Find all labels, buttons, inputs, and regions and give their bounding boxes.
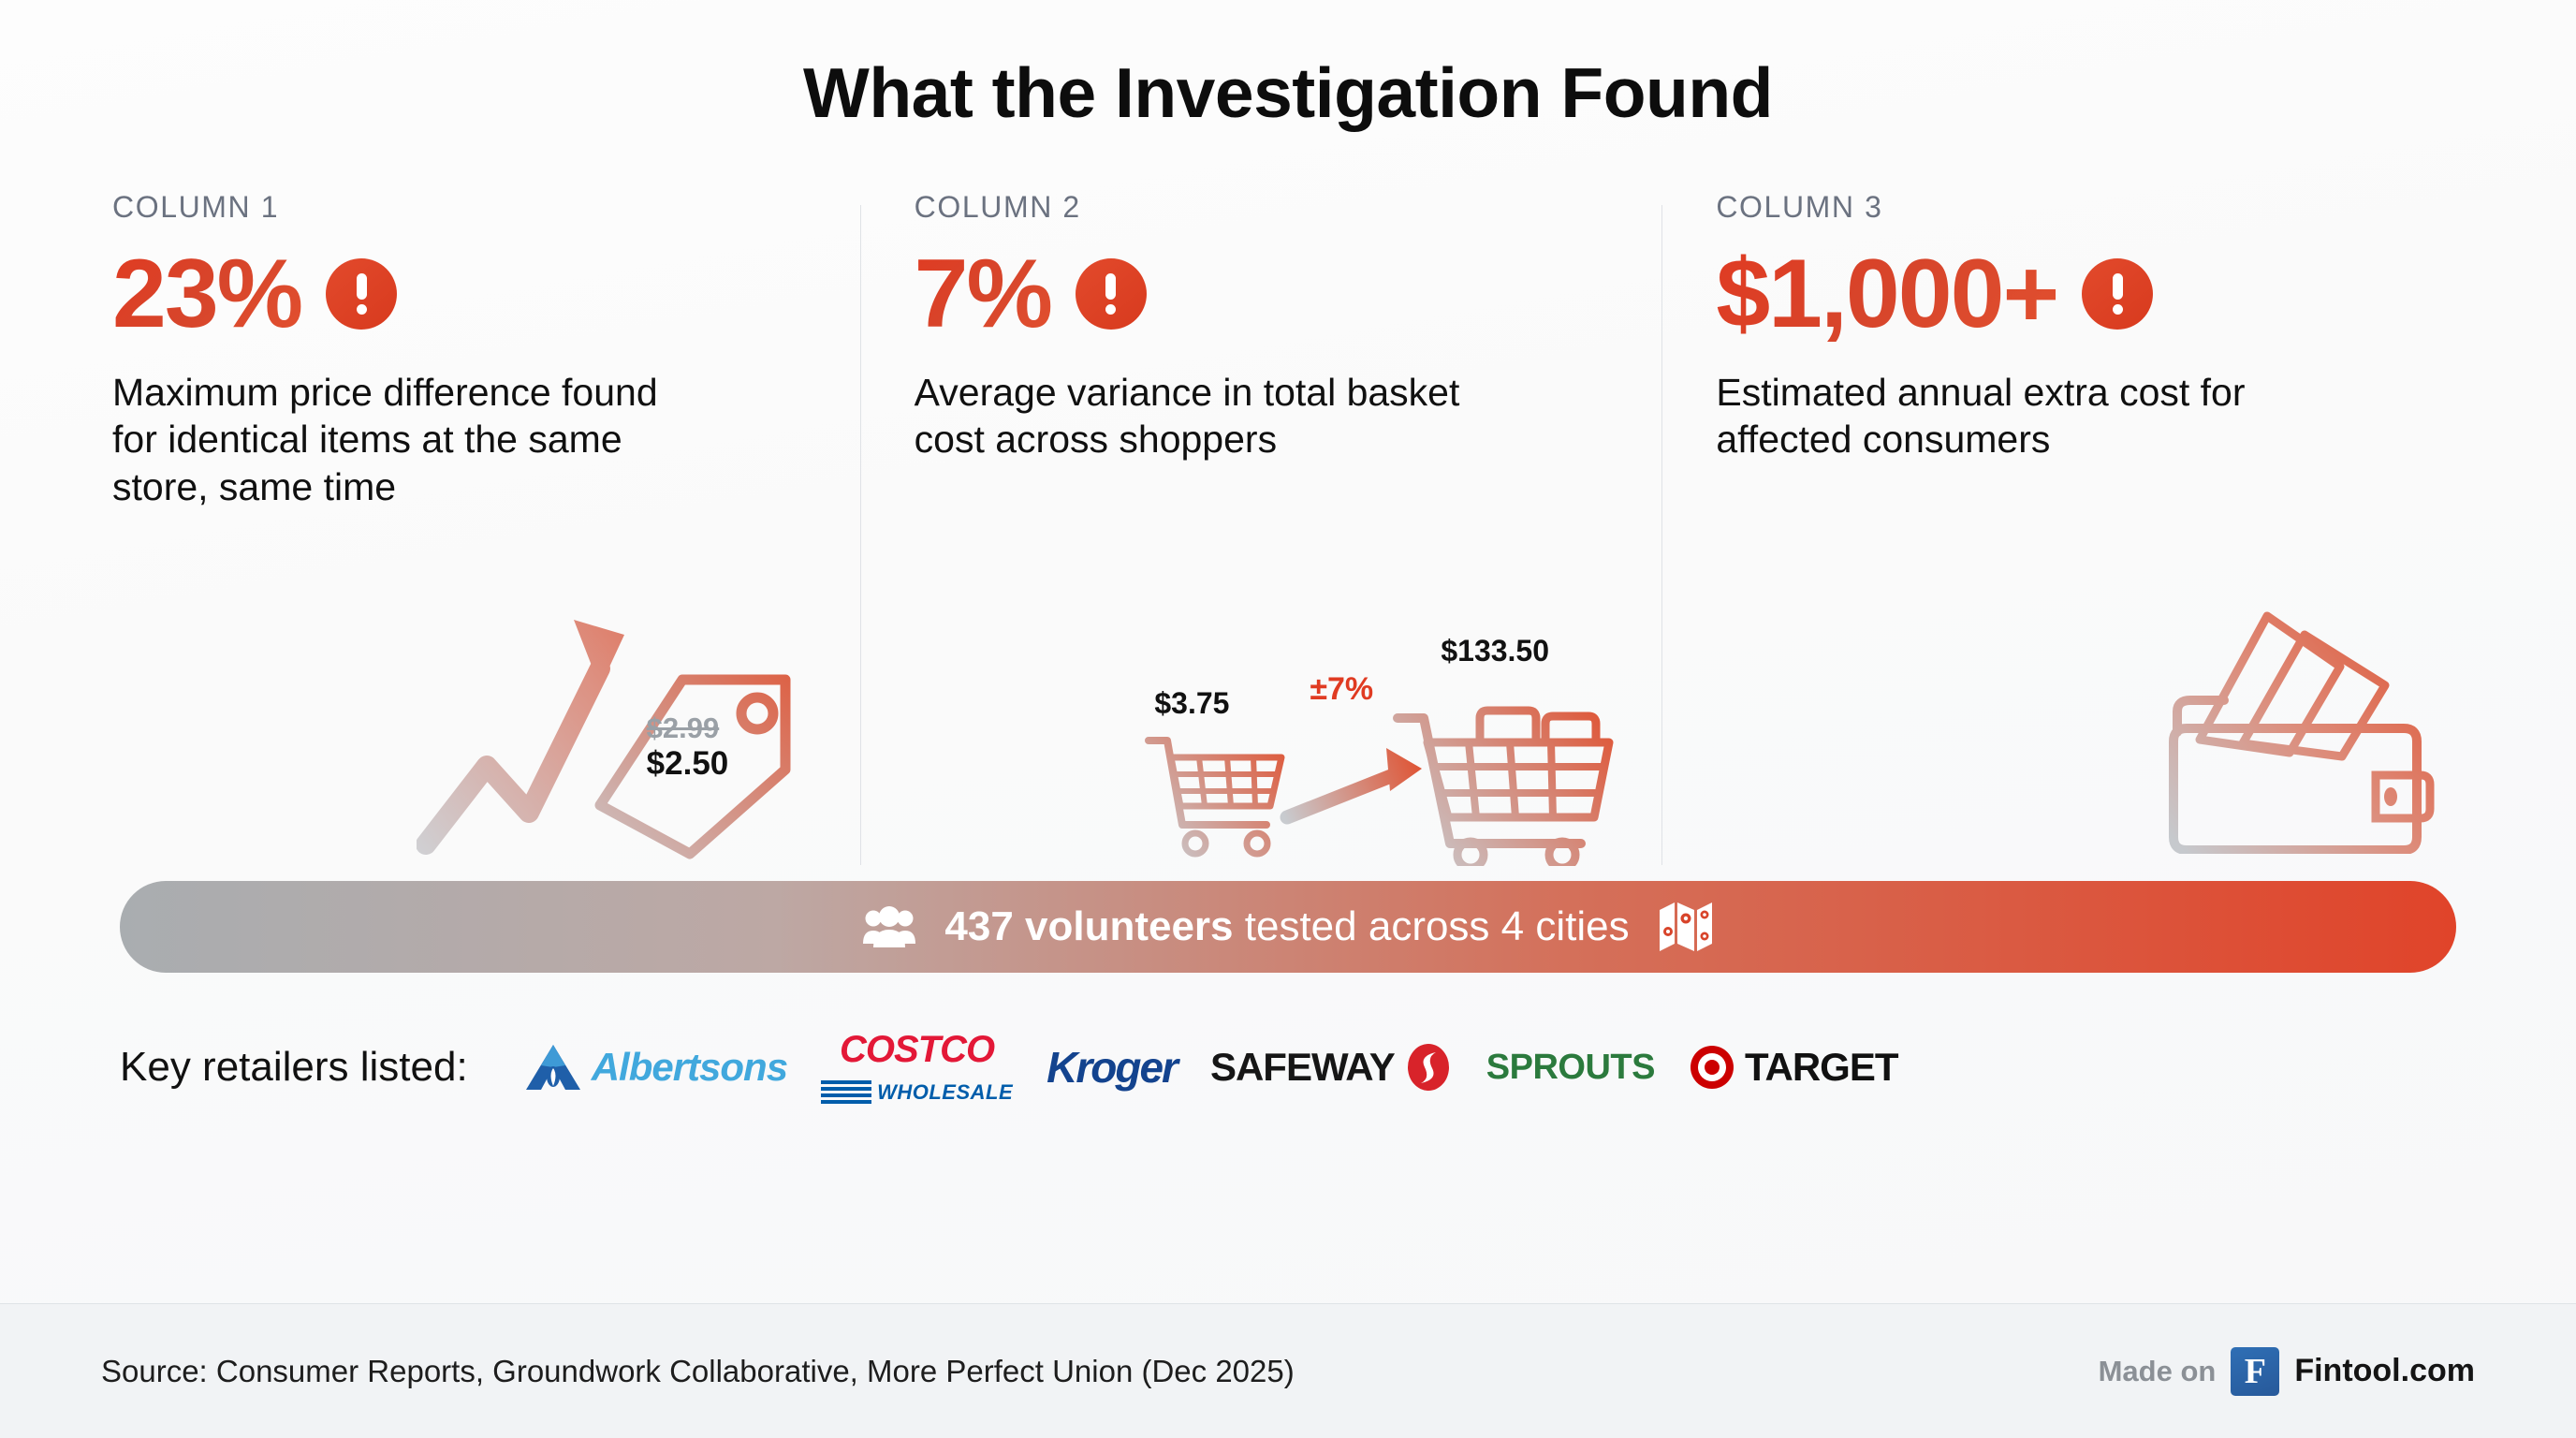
retailer-logo-safeway: SAFEWAY — [1210, 1043, 1453, 1092]
fintool-brand-name: Fintool.com — [2294, 1353, 2475, 1389]
header: What the Investigation Found — [0, 0, 2576, 128]
large-cart-price-label: $133.50 — [1441, 634, 1549, 668]
costco-stripes-icon — [821, 1080, 871, 1104]
retailers-row: Key retailers listed: Albertsons COSTCO … — [0, 1031, 2576, 1104]
volunteers-banner-wrapper: 437 volunteers tested across 4 cities — [0, 881, 2576, 973]
target-wordmark: TARGET — [1745, 1045, 1898, 1090]
kroger-wordmark: Kroger — [1046, 1042, 1177, 1093]
small-cart-price-label: $3.75 — [1154, 686, 1229, 721]
fintool-logo-icon: F — [2231, 1347, 2279, 1396]
footer: Source: Consumer Reports, Groundwork Col… — [0, 1303, 2576, 1438]
target-bullseye-icon — [1689, 1044, 1735, 1091]
retailer-logo-target: TARGET — [1689, 1044, 1898, 1091]
column-3-stat-value: $1,000+ — [1716, 245, 2057, 343]
column-2-description: Average variance in total basket cost ac… — [915, 369, 1514, 463]
costco-wordmark: COSTCO — [840, 1031, 994, 1068]
made-on-label: Made on — [2099, 1355, 2217, 1388]
albertsons-wordmark: Albertsons — [592, 1045, 787, 1090]
sprouts-wordmark: SPROUTS — [1486, 1048, 1655, 1088]
column-1-kicker: COLUMN 1 — [112, 190, 806, 225]
price-tag-trend-illustration: $2.99 $2.50 — [417, 582, 810, 868]
column-3-stat-row: $1,000+ — [1716, 245, 2409, 343]
infographic-root: What the Investigation Found COLUMN 1 23… — [0, 0, 2576, 1438]
old-price-label: $2.99 — [647, 712, 729, 745]
retailer-logo-kroger: Kroger — [1046, 1042, 1177, 1093]
column-1-stat-row: 23% — [112, 245, 806, 343]
retailer-logo-costco: COSTCO WHOLESALE — [821, 1031, 1013, 1104]
volunteers-banner: 437 volunteers tested across 4 cities — [120, 881, 2456, 973]
new-price-label: $2.50 — [647, 745, 729, 783]
people-group-icon — [862, 906, 916, 947]
banner-text: 437 volunteers tested across 4 cities — [944, 903, 1629, 950]
alert-exclamation-icon — [326, 258, 397, 330]
costco-wholesale-label: WHOLESALE — [877, 1082, 1013, 1103]
albertsons-a-icon — [524, 1043, 582, 1092]
stat-column-1: COLUMN 1 23% Maximum price difference fo… — [112, 190, 860, 864]
column-2-kicker: COLUMN 2 — [915, 190, 1608, 225]
safeway-wordmark: SAFEWAY — [1210, 1045, 1395, 1090]
banner-rest-label: tested across 4 cities — [1234, 903, 1630, 949]
shopping-cart-comparison-illustration: $3.75 ±7% $133.50 — [1141, 660, 1628, 866]
column-2-stat-value: 7% — [915, 245, 1051, 343]
source-citation: Source: Consumer Reports, Groundwork Col… — [101, 1354, 1295, 1389]
column-1-description: Maximum price difference found for ident… — [112, 369, 711, 510]
column-3-description: Estimated annual extra cost for affected… — [1716, 369, 2315, 463]
stat-columns: COLUMN 1 23% Maximum price difference fo… — [0, 190, 2576, 864]
map-pins-icon — [1658, 901, 1714, 953]
column-2-stat-row: 7% — [915, 245, 1608, 343]
safeway-s-icon — [1404, 1043, 1453, 1092]
wallet-cash-illustration — [2140, 592, 2458, 858]
column-1-stat-value: 23% — [112, 245, 301, 343]
alert-exclamation-icon — [1076, 258, 1147, 330]
made-on-badge[interactable]: Made on F Fintool.com — [2099, 1347, 2475, 1396]
retailers-label: Key retailers listed: — [120, 1044, 468, 1091]
stat-column-2: COLUMN 2 7% Average variance in total ba… — [860, 190, 1662, 864]
stat-column-3: COLUMN 3 $1,000+ Estimated annual extra … — [1661, 190, 2464, 864]
variance-label: ±7% — [1310, 671, 1373, 708]
retailer-logo-albertsons: Albertsons — [524, 1043, 787, 1092]
page-title: What the Investigation Found — [0, 58, 2576, 128]
retailer-logo-sprouts: SPROUTS — [1486, 1048, 1655, 1088]
column-3-kicker: COLUMN 3 — [1716, 190, 2409, 225]
volunteers-count-label: 437 volunteers — [944, 903, 1233, 949]
alert-exclamation-icon — [2082, 258, 2153, 330]
